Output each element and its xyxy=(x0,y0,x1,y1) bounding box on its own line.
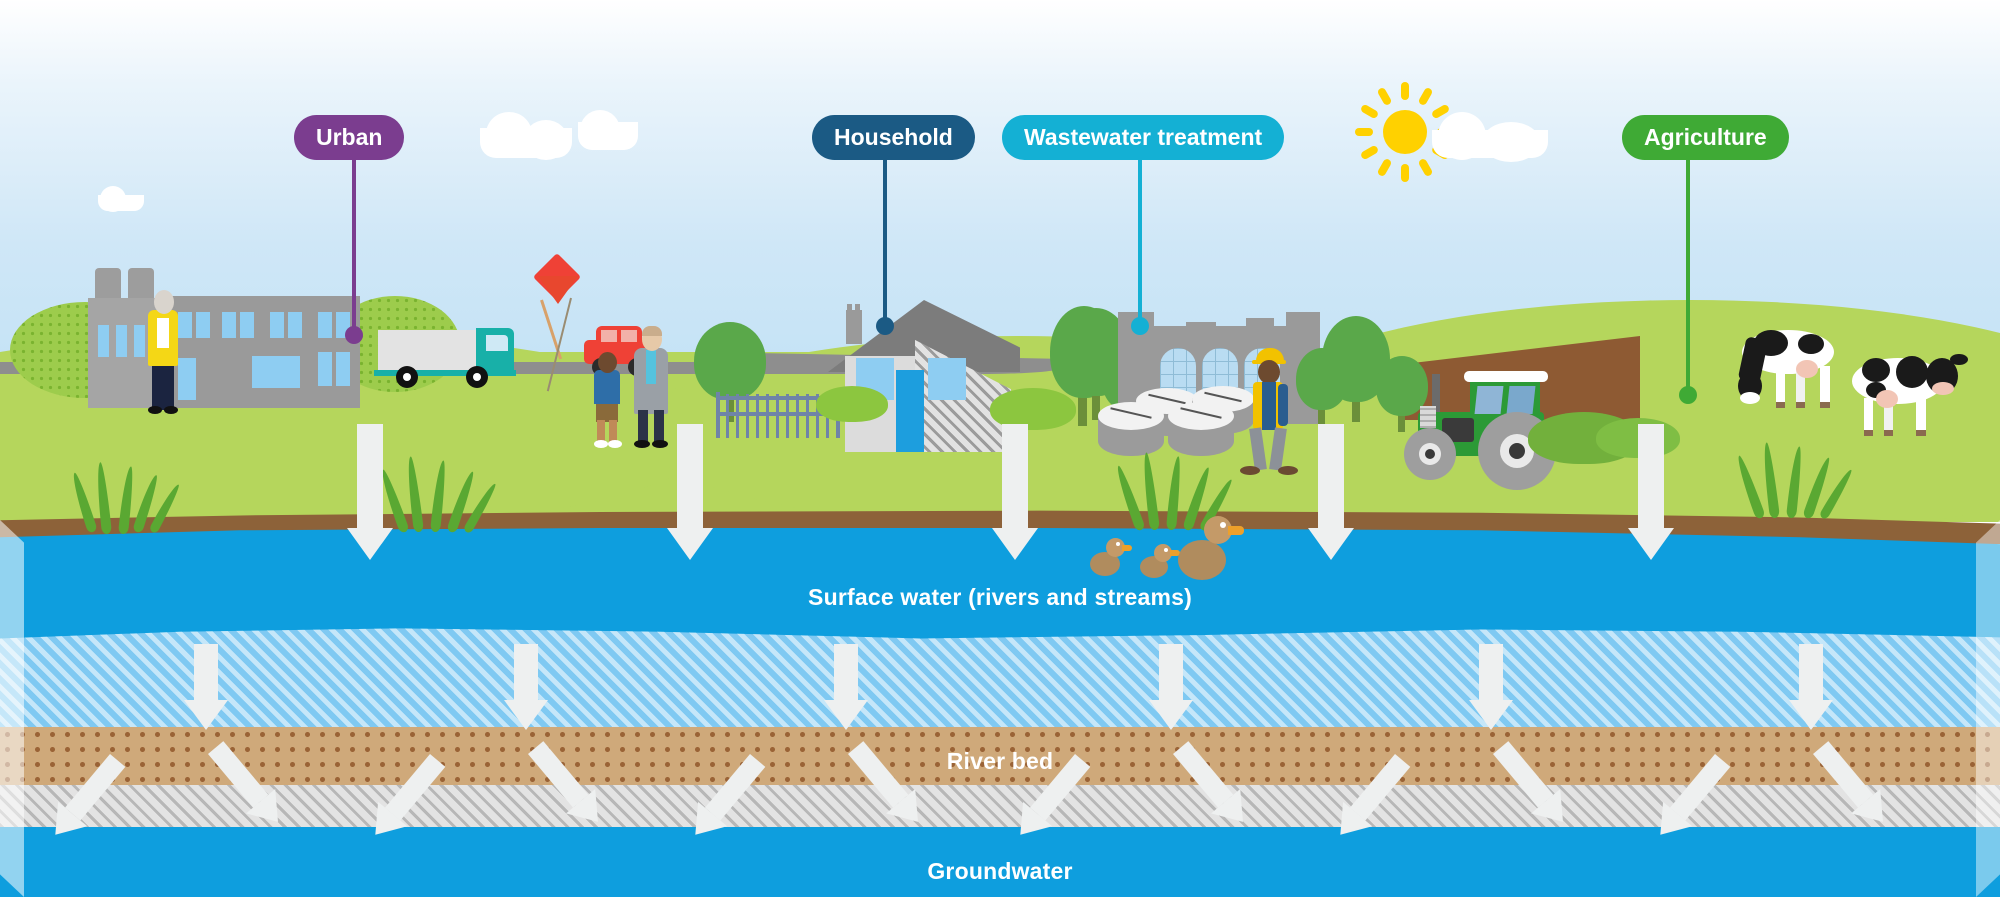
child-shoe xyxy=(594,440,608,448)
cloud-icon xyxy=(524,120,568,160)
groundwater-label: Groundwater xyxy=(0,858,2000,885)
worker-arm xyxy=(1278,384,1288,426)
truck-wheel-hub xyxy=(473,373,481,381)
person-shirt xyxy=(157,318,169,348)
adult-hair xyxy=(642,326,662,336)
factory-window xyxy=(336,352,350,386)
tractor-rear-hub xyxy=(1509,443,1525,459)
truck-window xyxy=(486,335,508,351)
factory-window xyxy=(116,325,127,357)
wastewater-callout-anchor xyxy=(1131,317,1149,335)
car-window xyxy=(601,330,617,342)
wastewater-callout-stem xyxy=(1138,150,1142,325)
cow-leg xyxy=(1820,366,1830,406)
house-window xyxy=(928,358,966,400)
agriculture-callout-label[interactable]: Agriculture xyxy=(1622,115,1789,160)
cow-hoof xyxy=(1776,402,1785,408)
cow-leg xyxy=(1916,396,1926,434)
house-door xyxy=(896,370,924,452)
tree-canopy xyxy=(694,322,766,400)
factory-window xyxy=(196,312,210,338)
car-window xyxy=(621,330,637,342)
cow-udder xyxy=(1876,390,1898,408)
factory-window xyxy=(318,352,332,386)
tractor-window xyxy=(1475,386,1504,414)
settlement-tank-top xyxy=(1098,402,1164,430)
tractor-front-hub xyxy=(1425,449,1435,459)
cutaway-edge xyxy=(0,520,24,897)
urban-callout-stem xyxy=(352,150,356,335)
factory-window xyxy=(222,312,236,338)
urban-callout-anchor xyxy=(345,326,363,344)
factory-window xyxy=(178,358,196,400)
factory-window xyxy=(178,312,192,338)
tractor-window xyxy=(1507,386,1536,414)
garden-fence xyxy=(786,394,789,438)
person-shoe xyxy=(164,406,178,414)
factory-window xyxy=(98,325,109,357)
factory-window xyxy=(318,312,332,338)
household-callout-label[interactable]: Household xyxy=(812,115,975,160)
child-head xyxy=(598,352,617,373)
adult-leg xyxy=(638,410,648,444)
cow-hoof xyxy=(1796,402,1805,408)
agriculture-callout-anchor xyxy=(1679,386,1697,404)
garden-fence xyxy=(796,394,799,438)
garden-fence xyxy=(806,394,809,438)
house-chimney-pot xyxy=(847,304,852,314)
cow-ear xyxy=(1950,354,1968,365)
garden-fence xyxy=(716,392,720,438)
cow-patch xyxy=(1896,356,1928,388)
river-bed-label: River bed xyxy=(0,748,2000,775)
child-shirt xyxy=(594,370,620,404)
cow-hoof xyxy=(1916,430,1926,436)
garden-fence xyxy=(736,394,739,438)
factory-window xyxy=(288,312,302,338)
worker-head xyxy=(1258,360,1280,384)
factory-window xyxy=(252,356,300,388)
factory-window xyxy=(270,312,284,338)
cow-udder xyxy=(1796,360,1818,378)
cow-patch xyxy=(1862,358,1890,382)
child-shoe xyxy=(608,440,622,448)
household-callout-stem xyxy=(883,150,887,325)
adult-scarf xyxy=(646,350,656,384)
tractor-roof xyxy=(1464,371,1548,382)
worker-boot xyxy=(1278,466,1298,475)
truck-wheel-hub xyxy=(403,373,411,381)
cloud-icon xyxy=(1482,122,1540,162)
tree-canopy xyxy=(1296,348,1348,410)
cow-muzzle xyxy=(1932,382,1954,395)
cutaway-edge xyxy=(1976,520,2000,897)
cloud-icon xyxy=(580,110,620,150)
person-head xyxy=(154,290,174,314)
cow-hoof xyxy=(1820,402,1830,408)
worker-boot xyxy=(1240,466,1260,475)
cloud-icon xyxy=(100,186,126,212)
adult-shoe xyxy=(652,440,668,448)
cow-leg xyxy=(1776,368,1785,406)
cow-patch xyxy=(1798,334,1824,354)
house-chimney xyxy=(846,310,862,344)
hyporheic-layer xyxy=(0,625,2000,737)
adult-leg xyxy=(654,410,664,444)
cow-hoof xyxy=(1864,430,1873,436)
cow-muzzle xyxy=(1740,392,1760,404)
urban-callout-label[interactable]: Urban xyxy=(294,115,404,160)
garden-fence xyxy=(776,394,779,438)
cow-leg xyxy=(1864,398,1873,434)
garden-fence xyxy=(726,394,729,438)
factory-window xyxy=(134,325,145,357)
infographic-canvas: Surface water (rivers and streams) River… xyxy=(0,0,2000,897)
tractor-grille xyxy=(1420,406,1436,428)
garden-fence xyxy=(746,394,749,438)
settlement-tank-top xyxy=(1168,402,1234,430)
cow-hoof xyxy=(1884,430,1893,436)
wastewater-callout-label[interactable]: Wastewater treatment xyxy=(1002,115,1284,160)
household-callout-anchor xyxy=(876,317,894,335)
agriculture-callout-stem xyxy=(1686,150,1690,395)
garden-fence xyxy=(756,394,759,438)
factory-window xyxy=(240,312,254,338)
garden-fence xyxy=(766,394,769,438)
surface-water-label: Surface water (rivers and streams) xyxy=(0,584,2000,611)
adult-shoe xyxy=(634,440,650,448)
worker-shirt xyxy=(1262,382,1276,430)
cloud-icon xyxy=(1438,112,1486,160)
house-chimney-pot xyxy=(855,304,860,314)
truck-cargo xyxy=(378,330,476,372)
bush xyxy=(816,386,888,422)
person-shoe xyxy=(148,406,162,414)
